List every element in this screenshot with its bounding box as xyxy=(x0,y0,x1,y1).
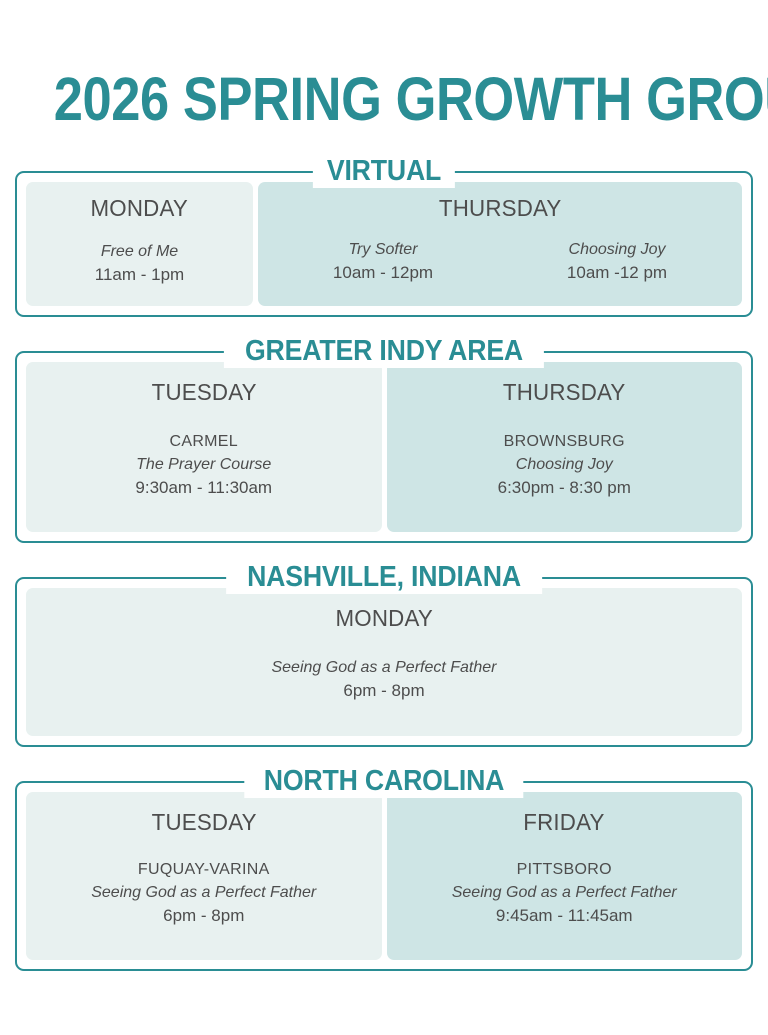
day-panel: THURSDAYBROWNSBURGChoosing Joy6:30pm - 8… xyxy=(387,362,743,532)
section-label-text: VIRTUAL xyxy=(327,154,441,188)
panel-row: TUESDAYCARMELThe Prayer Course9:30am - 1… xyxy=(26,362,742,532)
group-entry: PITTSBOROSeeing God as a Perfect Father9… xyxy=(395,858,735,928)
group-entry: Try Softer10am - 12pm xyxy=(266,238,500,285)
day-heading: MONDAY xyxy=(34,194,245,222)
day-heading: FRIDAY xyxy=(395,808,735,836)
section-label: NASHVILLE, INDIANA xyxy=(226,560,542,594)
group-entry: FUQUAY-VARINASeeing God as a Perfect Fat… xyxy=(34,858,374,928)
day-panel: TUESDAYCARMELThe Prayer Course9:30am - 1… xyxy=(26,362,382,532)
day-heading: THURSDAY xyxy=(395,378,735,406)
day-heading-text: FRIDAY xyxy=(524,808,605,836)
group-study-title: Choosing Joy xyxy=(500,238,734,261)
group-time: 6pm - 8pm xyxy=(34,679,734,703)
group-time: 11am - 1pm xyxy=(34,263,245,287)
group-entry: Choosing Joy10am -12 pm xyxy=(500,238,734,285)
section-label: VIRTUAL xyxy=(313,154,455,188)
day-heading-text: TUESDAY xyxy=(151,808,256,836)
group-study-title: The Prayer Course xyxy=(34,453,374,476)
group-entry: Seeing God as a Perfect Father6pm - 8pm xyxy=(34,656,734,703)
group-city: CARMEL xyxy=(34,430,374,453)
day-heading: THURSDAY xyxy=(266,194,734,222)
day-panel: TUESDAYFUQUAY-VARINASeeing God as a Perf… xyxy=(26,792,382,960)
schedule-sections: VIRTUALMONDAYFree of Me11am - 1pmTHURSDA… xyxy=(0,171,768,971)
group-entry: Free of Me11am - 1pm xyxy=(34,240,245,287)
section-label: NORTH CAROLINA xyxy=(244,764,523,798)
group-time: 10am - 12pm xyxy=(266,261,500,285)
panel-row: MONDAYSeeing God as a Perfect Father6pm … xyxy=(26,588,742,736)
section-label: GREATER INDY AREA xyxy=(224,334,544,368)
group-city: FUQUAY-VARINA xyxy=(34,858,374,881)
group-city: PITTSBORO xyxy=(395,858,735,881)
section-label-text: NORTH CAROLINA xyxy=(264,764,504,798)
group-time: 10am -12 pm xyxy=(500,261,734,285)
panel-row: MONDAYFree of Me11am - 1pmTHURSDAYTry So… xyxy=(26,182,742,306)
section-label-text: GREATER INDY AREA xyxy=(245,334,523,368)
day-heading-text: THURSDAY xyxy=(439,194,562,222)
group-study-title: Try Softer xyxy=(266,238,500,261)
entry-column: Choosing Joy10am -12 pm xyxy=(500,238,734,285)
day-heading-text: MONDAY xyxy=(335,604,432,632)
group-study-title: Choosing Joy xyxy=(395,453,735,476)
entry-column: Try Softer10am - 12pm xyxy=(266,238,500,285)
schedule-section: GREATER INDY AREATUESDAYCARMELThe Prayer… xyxy=(15,351,753,543)
group-study-title: Free of Me xyxy=(34,240,245,263)
day-heading: TUESDAY xyxy=(34,378,374,406)
day-panel: THURSDAYTry Softer10am - 12pmChoosing Jo… xyxy=(258,182,742,306)
group-entry: BROWNSBURGChoosing Joy6:30pm - 8:30 pm xyxy=(395,430,735,500)
day-heading: TUESDAY xyxy=(34,808,374,836)
entry-columns: Try Softer10am - 12pmChoosing Joy10am -1… xyxy=(266,238,734,285)
group-entry: CARMELThe Prayer Course9:30am - 11:30am xyxy=(34,430,374,500)
schedule-section: NASHVILLE, INDIANAMONDAYSeeing God as a … xyxy=(15,577,753,747)
group-time: 6pm - 8pm xyxy=(34,904,374,928)
day-heading-text: TUESDAY xyxy=(151,378,256,406)
group-time: 9:30am - 11:30am xyxy=(34,476,374,500)
day-heading: MONDAY xyxy=(34,604,734,632)
section-label-text: NASHVILLE, INDIANA xyxy=(247,560,521,594)
day-panel: FRIDAYPITTSBOROSeeing God as a Perfect F… xyxy=(387,792,743,960)
group-study-title: Seeing God as a Perfect Father xyxy=(395,881,735,904)
group-time: 9:45am - 11:45am xyxy=(395,904,735,928)
group-time: 6:30pm - 8:30 pm xyxy=(395,476,735,500)
schedule-section: VIRTUALMONDAYFree of Me11am - 1pmTHURSDA… xyxy=(15,171,753,317)
schedule-section: NORTH CAROLINATUESDAYFUQUAY-VARINASeeing… xyxy=(15,781,753,971)
panel-row: TUESDAYFUQUAY-VARINASeeing God as a Perf… xyxy=(26,792,742,960)
group-study-title: Seeing God as a Perfect Father xyxy=(34,881,374,904)
page-title: 2026 SPRING GROWTH GROUPS xyxy=(54,41,714,130)
day-panel: MONDAYFree of Me11am - 1pm xyxy=(26,182,253,306)
day-heading-text: THURSDAY xyxy=(503,378,626,406)
day-panel: MONDAYSeeing God as a Perfect Father6pm … xyxy=(26,588,742,736)
day-heading-text: MONDAY xyxy=(91,194,188,222)
group-study-title: Seeing God as a Perfect Father xyxy=(34,656,734,679)
group-city: BROWNSBURG xyxy=(395,430,735,453)
